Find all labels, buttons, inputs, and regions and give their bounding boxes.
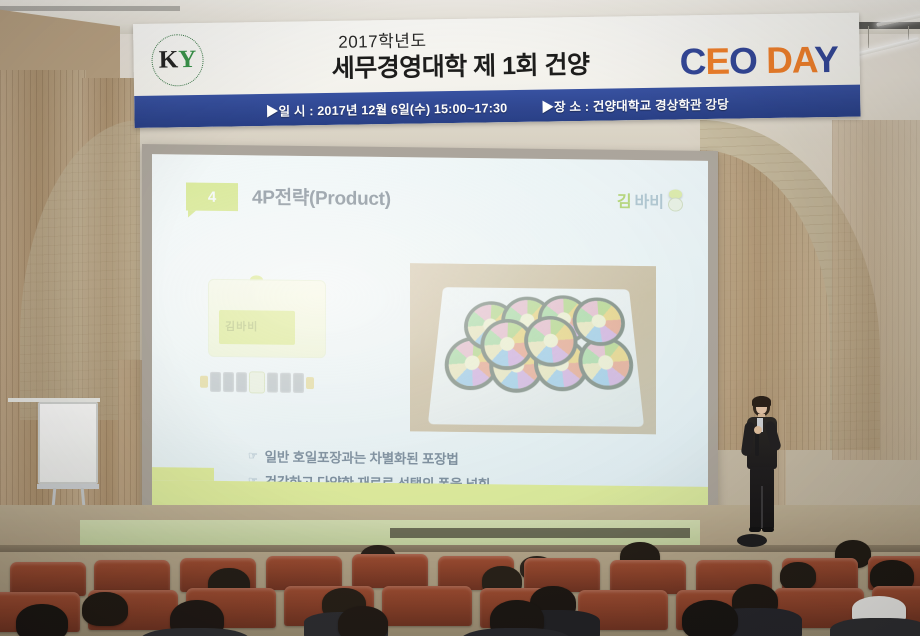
banner-main-line: 세무경영대학 제 1회 건양 [331,45,589,85]
presenter-hand [754,426,762,434]
banner-upper: KY 2017학년도 세무경영대학 제 1회 건양 CEO DAY LINC+ [133,13,860,96]
slide-title: 4P전략(Product) [252,182,391,211]
brand-name-blue: 바비 [635,188,664,212]
brand-name-green: 김 [617,188,632,212]
audience-head [682,600,738,636]
seat [610,560,686,594]
ceo-day-logo: CEO DAY [679,41,838,80]
microphone-icon [755,432,759,456]
package-box: 김바비 [208,279,326,358]
presenter [740,396,786,546]
audience-head [780,562,816,590]
package-label: 김바비 [219,310,295,345]
konyang-university-logo-icon: KY [147,31,206,90]
ky-monogram: KY [153,47,201,73]
banner-datetime: ▶일 시 : 2017년 12월 6일(수) 15:00~17:30 [266,97,508,120]
presentation-slide: 4 4P전략(Product) 김 바비 김바비 [152,154,708,513]
presenter-leg-split [761,486,763,528]
stage-shadow-band [390,528,690,538]
light-rod [908,26,909,40]
event-banner: KY 2017학년도 세무경영대학 제 1회 건양 CEO DAY LINC+ … [133,13,861,128]
seat [10,562,86,596]
brand-mascot-icon [667,189,684,211]
seat [382,586,472,626]
ceiling-beam-left [0,6,180,11]
whiteboard-marker-tray [37,484,99,489]
list-item: ☞ 일반 호일포장과는 차별화된 포장법 [248,445,490,468]
rainbow-kimbap-photo [410,263,656,434]
audience-shoulders [830,618,920,636]
presenter-shoe-left [749,527,761,532]
floor-bag [737,534,767,547]
seat [266,556,342,590]
auditorium-photo: KY 2017학년도 세무경영대학 제 1회 건양 CEO DAY LINC+ … [0,0,920,636]
projector-wash-overlay [410,263,656,434]
slide-number-badge: 4 [186,183,238,212]
bullet-icon: ☞ [248,449,258,462]
audience-head [338,606,388,636]
seat [352,554,428,588]
audience-head [16,604,68,636]
bullet-text: 일반 호일포장과는 차별화된 포장법 [265,445,459,467]
wall-panel-far-right [832,120,920,460]
seat [94,560,170,594]
whiteboard-panel [38,402,98,484]
presenter-shoe-right [762,527,774,532]
banner-venue: ▶장 소 : 건양대학교 경상학관 강당 [541,93,729,115]
product-package-mockup: 김바비 [194,273,344,425]
audience-head [82,592,128,626]
light-rod [868,26,869,48]
package-label-text: 김바비 [225,318,258,334]
package-roll-strip [200,369,334,397]
kimbabi-brand-logo: 김 바비 [617,188,684,213]
presenter-hair [752,396,771,407]
projection-screen: 4 4P전략(Product) 김 바비 김바비 [142,144,718,531]
